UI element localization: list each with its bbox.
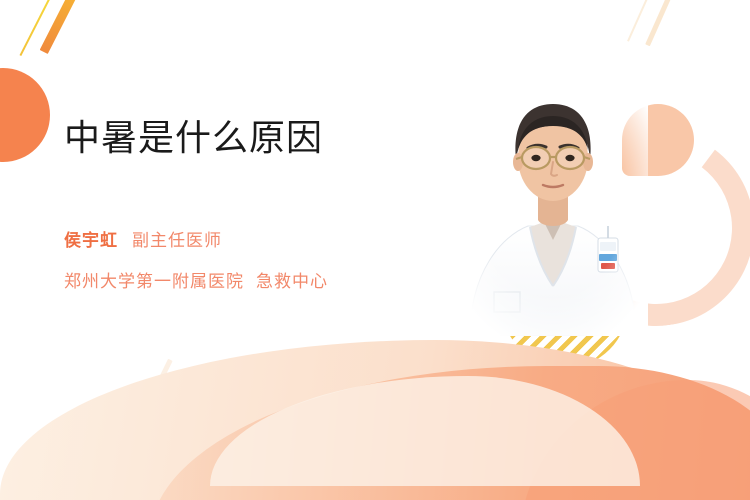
doctor-name: 侯宇虹 [64, 231, 118, 251]
doctor-affiliation: 郑州大学第一附属医院急救中心 [64, 267, 328, 292]
cream-stripe-thin-decoration [627, 0, 655, 42]
video-cover-card: 中暑是什么原因 侯宇虹副主任医师 郑州大学第一附属医院急救中心 [0, 0, 750, 500]
text-content-block: 中暑是什么原因 侯宇虹副主任医师 郑州大学第一附属医院急救中心 [64, 116, 328, 292]
department-name: 急救中心 [256, 272, 328, 292]
doctor-rank: 副主任医师 [132, 231, 222, 251]
doctor-byline: 侯宇虹副主任医师 [64, 232, 328, 251]
doctor-portrait [458, 86, 648, 336]
orange-stripe-thick-decoration [40, 0, 82, 54]
orange-circle-decoration [0, 68, 50, 162]
hospital-name: 郑州大学第一附属医院 [64, 272, 244, 292]
yellow-stripe-thin-decoration [19, 0, 58, 56]
page-title: 中暑是什么原因 [64, 116, 328, 161]
doctor-portrait-illustration [458, 86, 648, 336]
cream-stripe-thick-decoration [645, 0, 676, 46]
